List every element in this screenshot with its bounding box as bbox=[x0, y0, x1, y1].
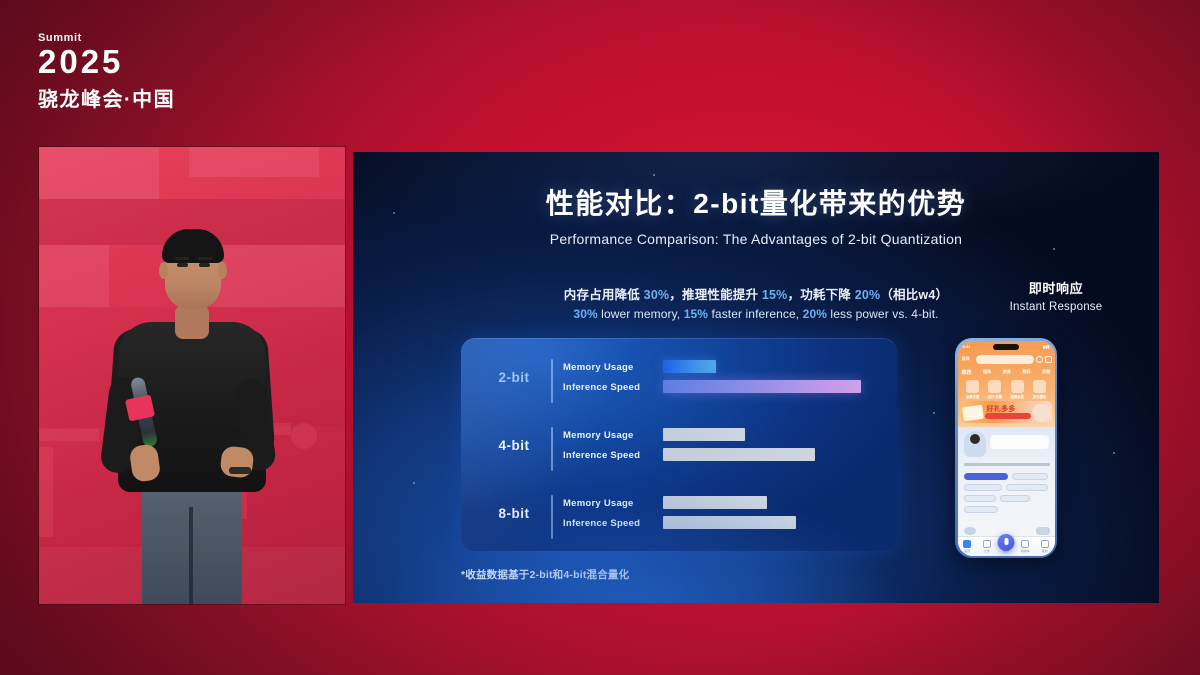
metric-label-inference-2bit: Inference Speed bbox=[563, 382, 640, 393]
voice-assistant-mic-button[interactable] bbox=[998, 534, 1015, 551]
metric-label-memory-2bit: Memory Usage bbox=[563, 362, 634, 373]
message-icon[interactable] bbox=[1045, 356, 1052, 363]
slide-title-cn: 性能对比：2-bit量化带来的优势 bbox=[353, 182, 1159, 222]
video-member-icon bbox=[1011, 380, 1024, 393]
quick-action-more[interactable]: 更多服务 bbox=[1029, 380, 1049, 400]
nav-label: 购物车 bbox=[1020, 549, 1031, 553]
kpi-cn-v3: 20% bbox=[855, 288, 881, 302]
quick-action-phone-bill[interactable]: 话费充值 bbox=[963, 380, 983, 400]
logo-summit-word: Summit bbox=[38, 32, 175, 44]
status-time: 9:41 bbox=[963, 344, 971, 349]
event-logo: Summit 2025 骁龙峰会·中国 bbox=[38, 32, 175, 112]
quick-action-label: 更多服务 bbox=[1029, 394, 1049, 399]
quick-action-travel[interactable]: 出行·机票 bbox=[985, 380, 1005, 400]
phone-bill-icon bbox=[966, 380, 979, 393]
logo-year: 2025 bbox=[38, 46, 175, 78]
gift-icon bbox=[1032, 404, 1050, 422]
more-services-icon bbox=[1033, 380, 1046, 393]
avatar-head bbox=[970, 434, 980, 444]
coupon-icon bbox=[962, 404, 984, 421]
quick-action-label: 视频会员 bbox=[1007, 394, 1027, 399]
nav-item-profile[interactable]: 我的 bbox=[1039, 540, 1050, 553]
instant-response-heading: 即时响应 Instant Response bbox=[953, 278, 1159, 313]
scan-icon[interactable] bbox=[1036, 356, 1043, 363]
row-divider bbox=[551, 359, 553, 403]
tab-apparel[interactable]: 服饰 bbox=[983, 369, 991, 376]
tab-home[interactable]: 家居 bbox=[1042, 369, 1050, 376]
kpi-en-c: less power vs. 4-bit. bbox=[827, 307, 939, 321]
instant-response-title-cn: 即时响应 bbox=[953, 278, 1159, 297]
speaker-figure bbox=[39, 147, 345, 604]
suggestion-chip-6[interactable] bbox=[1000, 495, 1030, 502]
assistant-greeting-bubble bbox=[990, 435, 1049, 449]
tab-food[interactable]: 美食 bbox=[1003, 369, 1011, 376]
slide-bottom-glow bbox=[353, 443, 993, 603]
kpi-cn-v1: 30% bbox=[644, 288, 670, 302]
nav-label: 我的 bbox=[1039, 549, 1050, 553]
metric-label-memory-4bit: Memory Usage bbox=[563, 430, 634, 441]
status-signal-icon: ▮▮▮ bbox=[1043, 344, 1050, 349]
suggestion-chip-2[interactable] bbox=[1012, 473, 1048, 480]
slide-title-en: Performance Comparison: The Advantages o… bbox=[353, 231, 1159, 247]
phone-location-label: 深圳 bbox=[962, 356, 970, 362]
phone-category-tabs[interactable]: 推荐 服饰 美食 数码 家居 bbox=[962, 369, 1051, 376]
phone-app-header: 9:41 ▮▮▮ 深圳 推荐 服饰 美食 数码 家居 bbox=[958, 341, 1055, 427]
bar-memory-4bit bbox=[663, 428, 745, 441]
chart-row-label-2bit: 2-bit bbox=[485, 370, 543, 385]
phone-quick-actions[interactable]: 话费充值 出行·机票 视频会员 更多服务 bbox=[963, 380, 1050, 400]
kpi-en-a: lower memory, bbox=[598, 307, 684, 321]
bar-memory-2bit bbox=[663, 360, 716, 373]
presentation-slide: 性能对比：2-bit量化带来的优势 Performance Comparison… bbox=[353, 152, 1159, 603]
dynamic-island bbox=[993, 344, 1019, 350]
kpi-cn-v2: 15% bbox=[762, 288, 788, 302]
instant-response-title-en: Instant Response bbox=[953, 301, 1159, 313]
kpi-cn-a: 内存占用降低 bbox=[564, 288, 644, 302]
kpi-en-v3: 20% bbox=[803, 307, 827, 321]
travel-icon bbox=[988, 380, 1001, 393]
tab-digital[interactable]: 数码 bbox=[1022, 369, 1030, 376]
kpi-cn-c: ，功耗下降 bbox=[788, 288, 855, 302]
quick-action-label: 出行·机票 bbox=[985, 394, 1005, 399]
kpi-en-v2: 15% bbox=[684, 307, 708, 321]
nav-item-cart[interactable]: 购物车 bbox=[1020, 540, 1031, 553]
quick-action-label: 话费充值 bbox=[963, 394, 983, 399]
kpi-cn-b: ，推理性能提升 bbox=[669, 288, 762, 302]
kpi-cn-d: （相比w4） bbox=[880, 288, 948, 302]
tab-recommend[interactable]: 推荐 bbox=[962, 369, 972, 376]
speaker-video-panel bbox=[39, 147, 345, 604]
quick-action-video-member[interactable]: 视频会员 bbox=[1007, 380, 1027, 400]
cart-icon bbox=[1021, 540, 1029, 548]
suggestion-chip-4[interactable] bbox=[1006, 484, 1048, 491]
phone-search-input[interactable] bbox=[976, 355, 1034, 364]
phone-promo-banner[interactable]: 好礼多多 bbox=[961, 401, 1052, 423]
kpi-en-b: faster inference, bbox=[708, 307, 803, 321]
logo-chinese-title: 骁龙峰会·中国 bbox=[38, 83, 175, 112]
profile-icon bbox=[1041, 540, 1049, 548]
kpi-en-v1: 30% bbox=[573, 307, 597, 321]
chart-row-2bit: 2-bit Memory Usage Inference Speed bbox=[461, 352, 897, 410]
banner-subtitle-pill bbox=[985, 413, 1031, 419]
bar-inference-2bit bbox=[663, 380, 861, 393]
slide-header: 性能对比：2-bit量化带来的优势 Performance Comparison… bbox=[353, 182, 1159, 247]
